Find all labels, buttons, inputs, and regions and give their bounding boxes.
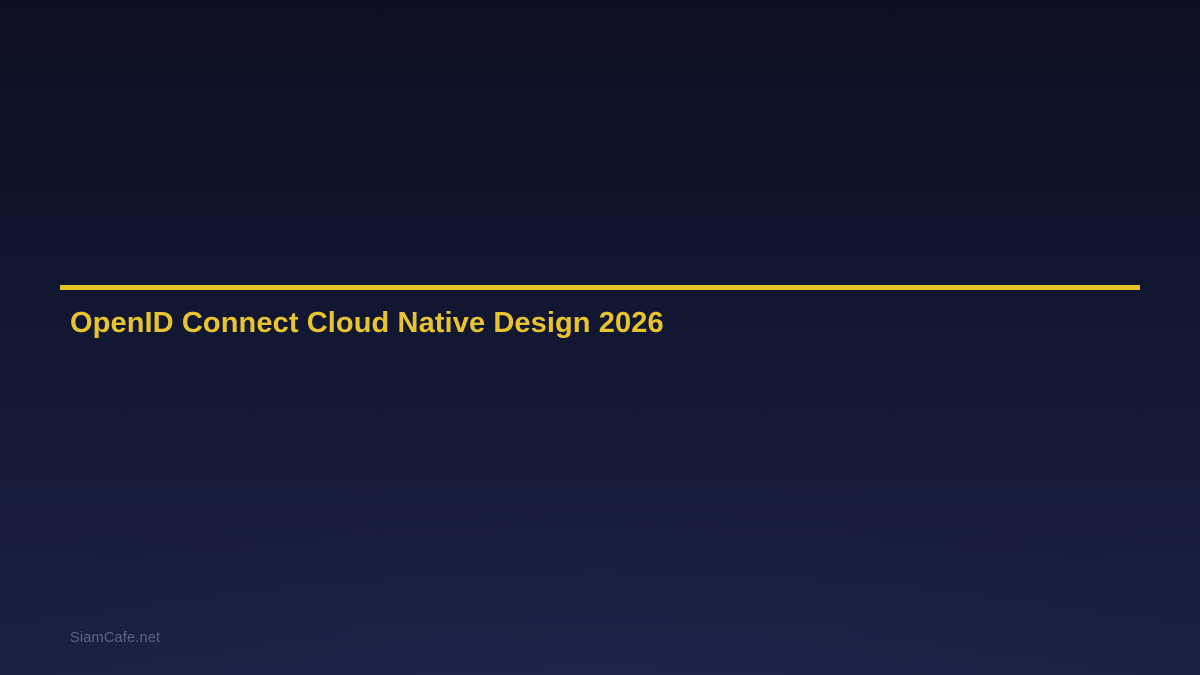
title-accent-rule xyxy=(60,285,1140,290)
title-block: OpenID Connect Cloud Native Design 2026 xyxy=(60,285,1140,290)
footer-brand-label: SiamCafe.net xyxy=(70,630,160,646)
slide-footer: SiamCafe.net xyxy=(70,629,160,647)
page-title: OpenID Connect Cloud Native Design 2026 xyxy=(60,309,664,338)
presentation-slide: OpenID Connect Cloud Native Design 2026 … xyxy=(0,0,1200,675)
